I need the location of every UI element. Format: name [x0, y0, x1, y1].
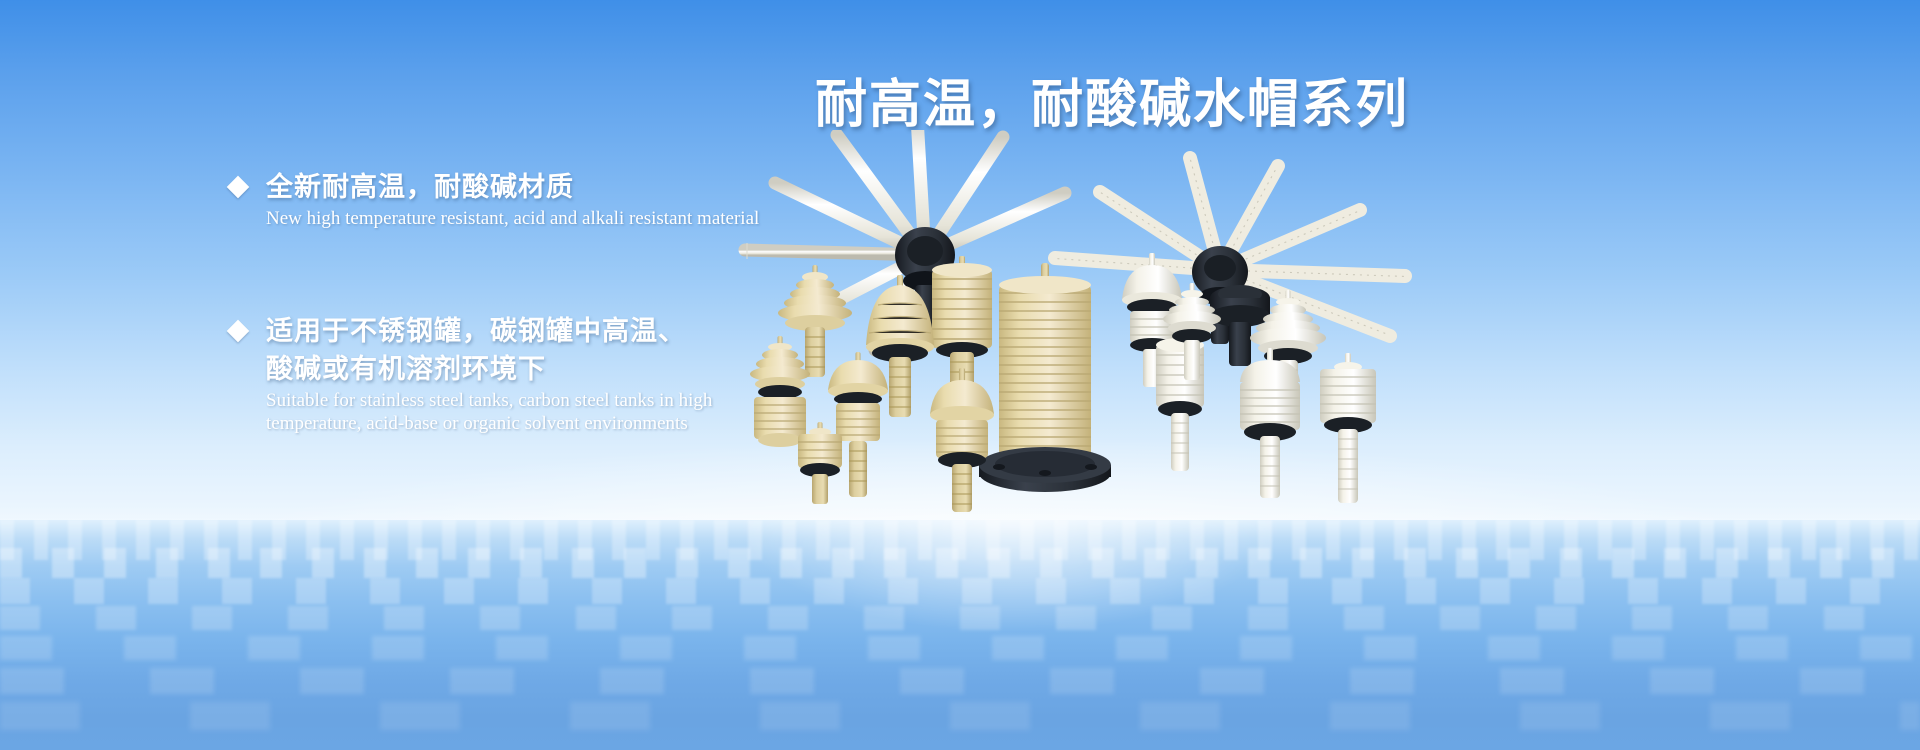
banner: 耐高温，耐酸碱水帽系列 全新耐高温，耐酸碱材质 New high tempera… — [0, 0, 1920, 750]
product-nozzle-stepped-b — [750, 336, 810, 447]
diamond-bullet-icon — [227, 176, 250, 199]
feature-2-en-line-2: temperature, acid-base or organic solven… — [266, 412, 712, 435]
diamond-bullet-icon — [227, 320, 250, 343]
product-nozzle-mushroom — [828, 352, 888, 497]
banner-headline: 耐高温，耐酸碱水帽系列 — [815, 62, 1409, 137]
product-large-column — [979, 263, 1111, 492]
feature-2-en-line-1: Suitable for stainless steel tanks, carb… — [266, 389, 712, 412]
feature-bullet-2: 适用于不锈钢罐，碳钢罐中高温、 酸碱或有机溶剂环境下 Suitable for … — [230, 312, 712, 435]
product-nozzle-white-d — [1240, 348, 1300, 498]
product-photo — [700, 130, 1500, 550]
product-nozzle-cone — [930, 368, 994, 512]
feature-1-en-line-1: New high temperature resistant, acid and… — [266, 207, 759, 230]
feature-bullet-1: 全新耐高温，耐酸碱材质 New high temperature resista… — [230, 168, 759, 230]
feature-2-cn-line-1: 适用于不锈钢罐，碳钢罐中高温、 — [266, 312, 686, 350]
feature-2-cn-line-2: 酸碱或有机溶剂环境下 — [266, 350, 712, 388]
feature-1-cn-line-1: 全新耐高温，耐酸碱材质 — [266, 168, 574, 206]
product-nozzle-cream-b — [798, 422, 842, 504]
product-nozzle-white-e — [1320, 353, 1376, 503]
